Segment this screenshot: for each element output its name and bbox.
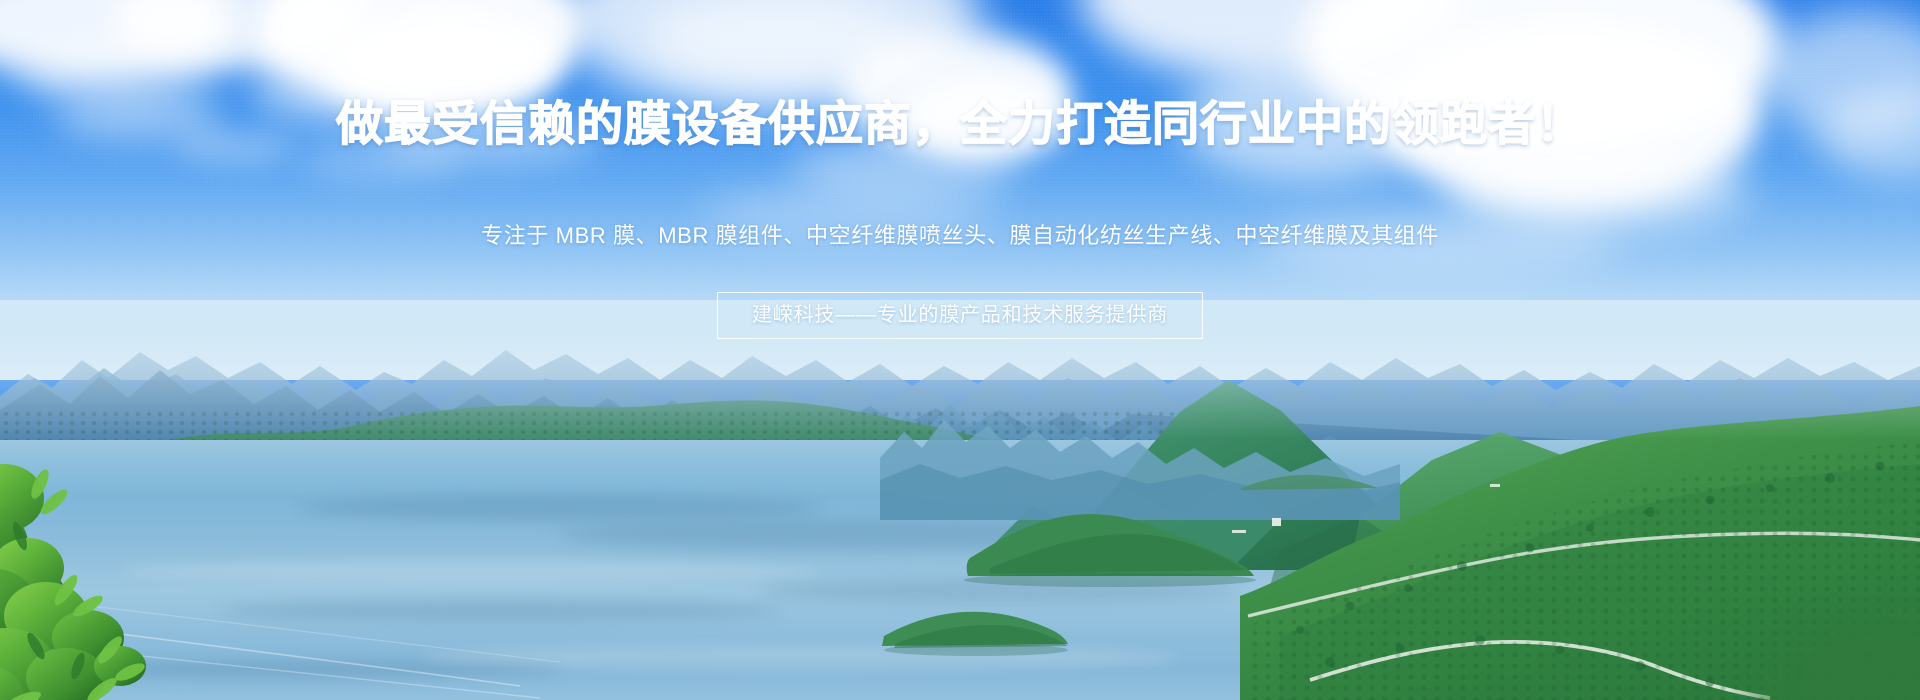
hero-banner: 做最受信赖的膜设备供应商，全力打造同行业中的领跑者！ 专注于 MBR 膜、MBR… bbox=[0, 0, 1920, 700]
page-title: 做最受信赖的膜设备供应商，全力打造同行业中的领跑者！ bbox=[0, 98, 1920, 150]
tagline-badge: 建嵘科技——专业的膜产品和技术服务提供商 bbox=[717, 292, 1203, 339]
bottom-right-foliage bbox=[1730, 590, 1920, 700]
island-tiny-far bbox=[1240, 466, 1380, 500]
island-small-left bbox=[880, 592, 1070, 662]
foreground-foliage bbox=[0, 440, 300, 700]
boat-marker bbox=[1232, 530, 1246, 533]
island-main bbox=[960, 500, 1260, 590]
far-boat-marker bbox=[1490, 484, 1500, 487]
lakeside-building-marker bbox=[1272, 518, 1281, 526]
banner-subtitle: 专注于 MBR 膜、MBR 膜组件、中空纤维膜喷丝头、膜自动化纺丝生产线、中空纤… bbox=[0, 221, 1920, 251]
